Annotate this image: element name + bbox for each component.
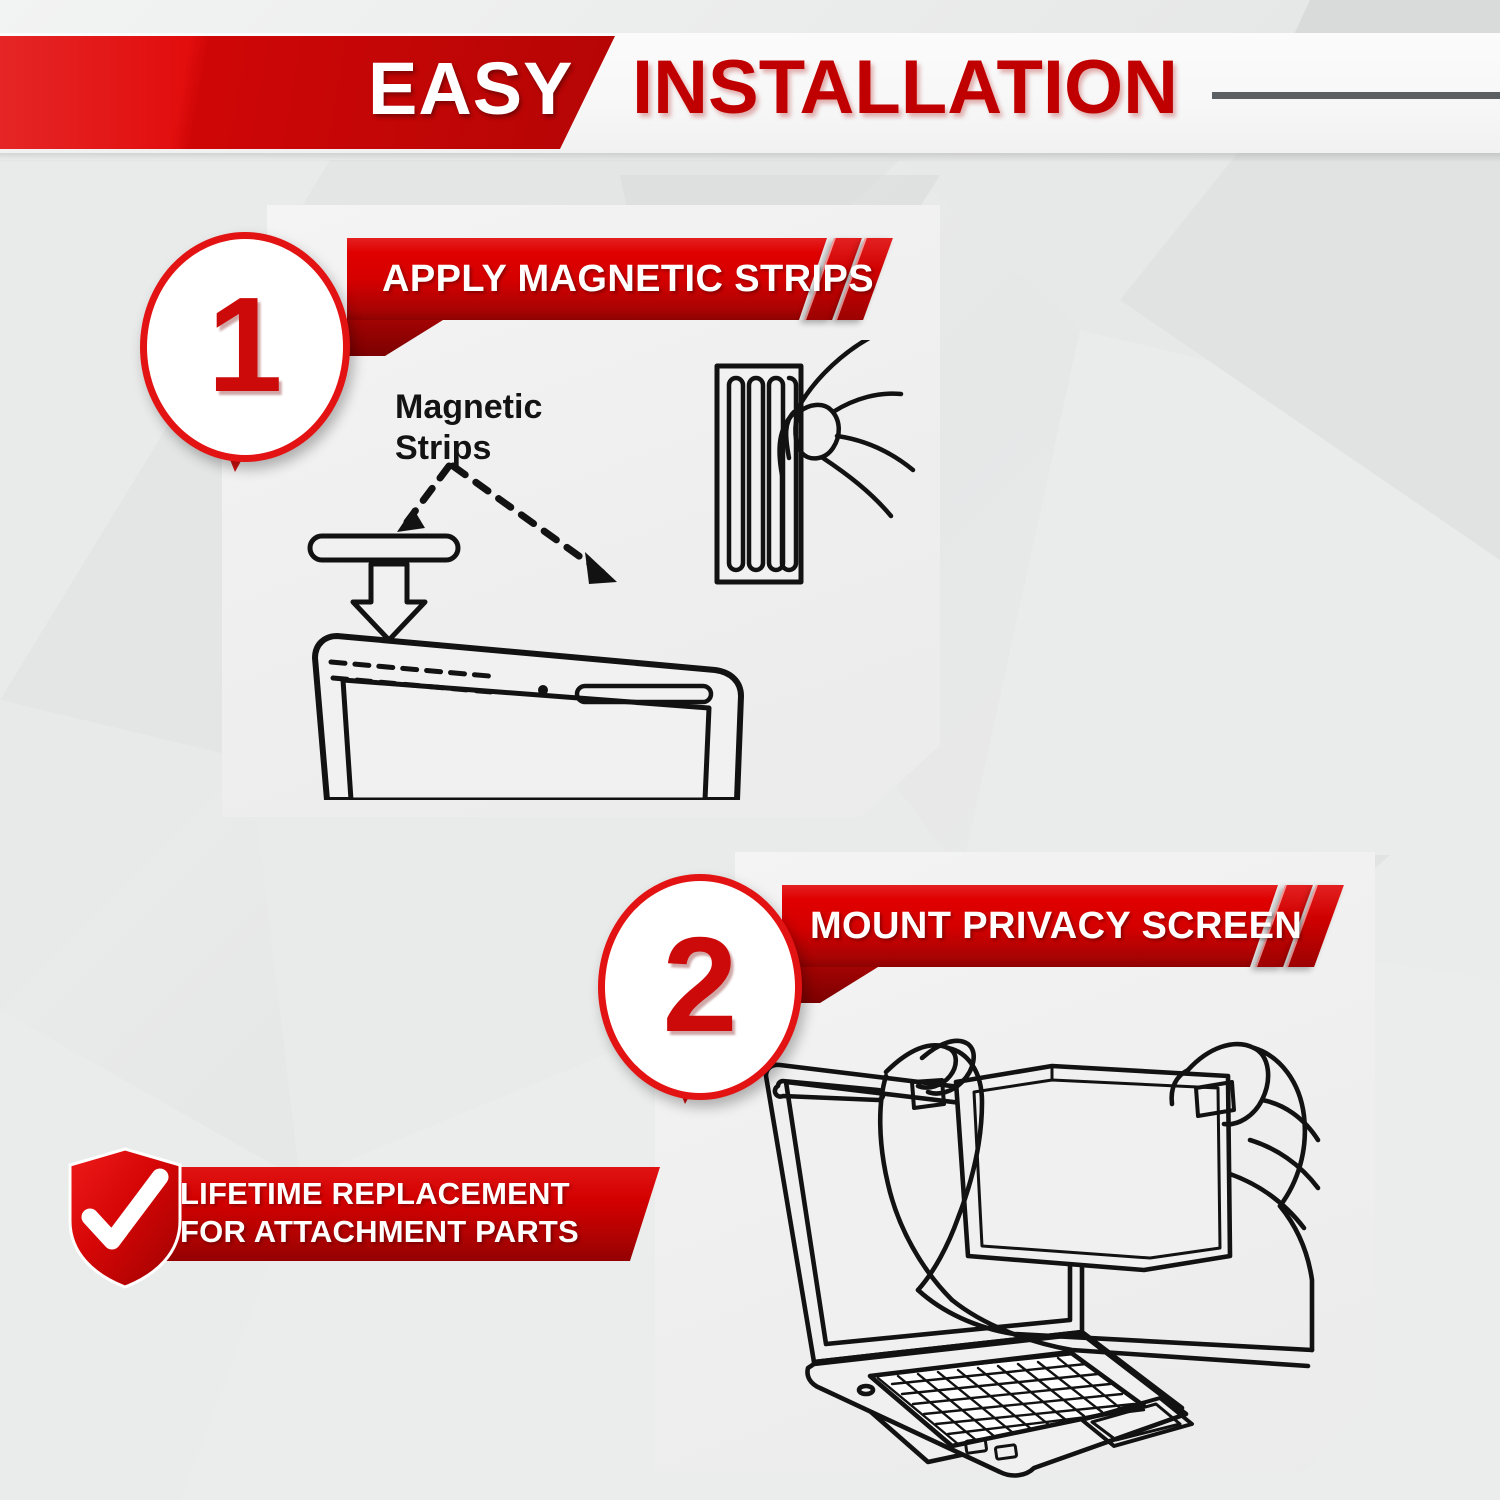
step-2-banner: MOUNT PRIVACY SCREEN xyxy=(782,885,1312,967)
step-2-number: 2 xyxy=(662,917,737,1052)
header-rule-line xyxy=(1212,92,1500,99)
step-2-number-badge: 2 xyxy=(598,874,802,1100)
guarantee-text: LIFETIME REPLACEMENT FOR ATTACHMENT PART… xyxy=(180,1175,650,1251)
magnetic-strips-callout: Magnetic Strips xyxy=(395,387,542,469)
step-1-banner: APPLY MAGNETIC STRIPS xyxy=(347,238,867,320)
step-1-number: 1 xyxy=(207,277,282,412)
callout-line-2: Strips xyxy=(395,428,542,469)
page-title-highlight: EASY xyxy=(368,52,574,126)
shield-check-icon xyxy=(60,1145,190,1291)
step-2-title: MOUNT PRIVACY SCREEN xyxy=(810,885,1302,967)
guarantee-line-1: LIFETIME REPLACEMENT xyxy=(180,1175,650,1213)
infographic-stage: EASY INSTALLATION xyxy=(0,0,1500,1500)
lifetime-replacement-badge: LIFETIME REPLACEMENT FOR ATTACHMENT PART… xyxy=(50,1145,650,1285)
step-1-number-badge: 1 xyxy=(140,232,350,462)
step-1-title: APPLY MAGNETIC STRIPS xyxy=(382,238,874,320)
step-2-illustration xyxy=(752,1032,1372,1482)
callout-line-1: Magnetic xyxy=(395,387,542,428)
header-gloss xyxy=(0,36,190,149)
step-1-illustration xyxy=(285,340,945,800)
guarantee-line-2: FOR ATTACHMENT PARTS xyxy=(180,1213,650,1251)
page-title-main: INSTALLATION xyxy=(632,50,1178,126)
